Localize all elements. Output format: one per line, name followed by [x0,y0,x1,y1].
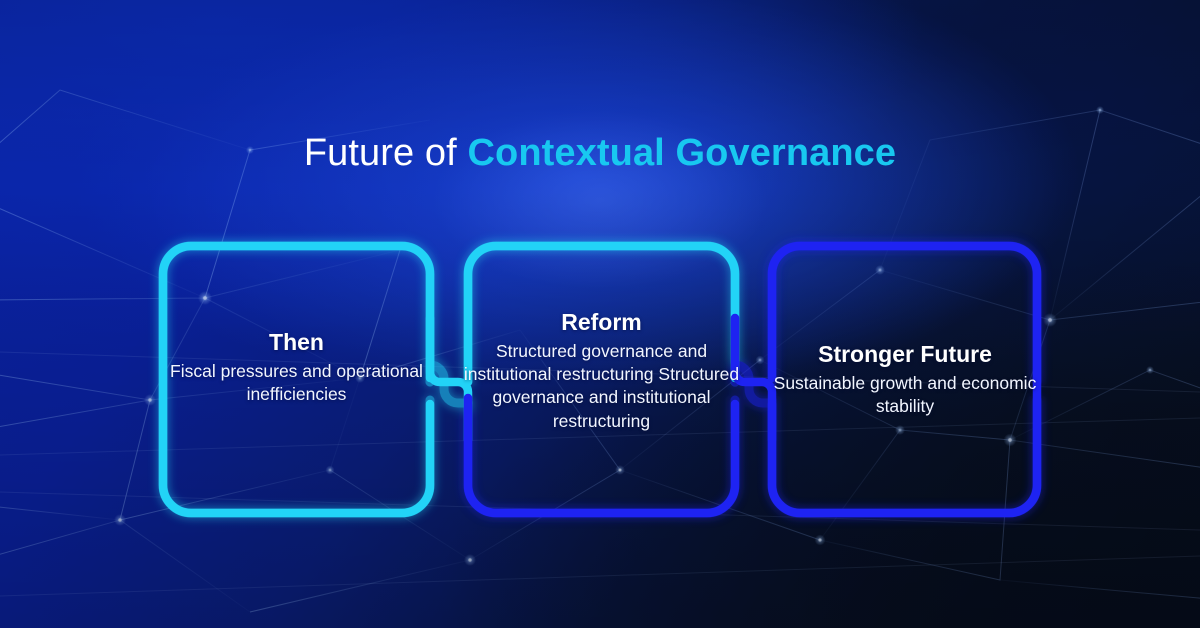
card-stronger-future-title: Stronger Future [772,340,1038,369]
card-stronger-future: Stronger Future Sustainable growth and e… [772,340,1038,418]
card-then-body: Fiscal pressures and operational ineffic… [163,360,430,407]
card-stronger-future-body: Sustainable growth and economic stabilit… [772,372,1038,419]
connector-reform-to-future [735,318,772,440]
card-reform-title: Reform [463,308,740,337]
card-reform: Reform Structured governance and institu… [463,308,740,433]
slide-canvas: Future of Contextual Governance [0,0,1200,628]
card-reform-body: Structured governance and institutional … [463,340,740,433]
card-then-title: Then [163,328,430,357]
card-then: Then Fiscal pressures and operational in… [163,328,430,406]
